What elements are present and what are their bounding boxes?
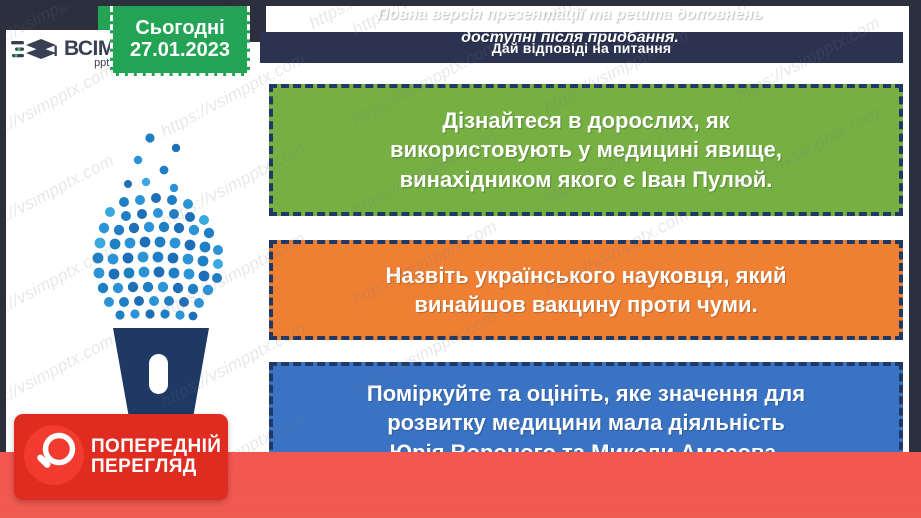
date-badge-today-label: Сьогодні [135,18,224,39]
question-2-line-1: Назвіть українського науковця, який [385,261,786,290]
preview-banner-line-1: Повна версія презентації та решта доповн… [250,4,890,27]
preview-banner-text: Повна версія презентації та решта доповн… [250,4,890,49]
preview-badge-line-1: ПОПЕРЕДНІЙ [91,437,221,457]
question-2-text: Назвіть українського науковця, який вина… [385,261,786,319]
brand-logo-text: ВСІМ pptx [64,38,115,69]
question-3-line-2: розвитку медицини мала діяльність [367,408,805,437]
question-1-line-3: винахідником якого є Іван Пулюй. [390,165,782,194]
question-1-line-2: використовують у медицині явище, [390,135,782,164]
question-2-line-2: винайшов вакцину проти чуми. [385,290,786,319]
question-box-1: Дізнайтеся в дорослих, як використовують… [269,84,903,216]
preview-badge-labels: ПОПЕРЕДНІЙ ПЕРЕГЛЯД [91,437,221,477]
question-1-text: Дізнайтеся в дорослих, як використовують… [390,106,782,193]
preview-banner-line-2: доступні після придбання. [250,27,890,50]
microphone-illustration [66,116,266,446]
question-1-line-1: Дізнайтеся в дорослих, як [390,106,782,135]
question-box-2: Назвіть українського науковця, який вина… [269,240,903,340]
preview-badge-line-2: ПЕРЕГЛЯД [91,457,221,477]
brand-name: ВСІМ [64,38,115,59]
date-badge: Сьогодні 27.01.2023 [110,6,250,76]
question-3-line-1: Поміркуйте та оцініть, яке значення для [367,379,805,408]
slide-frame: ВСІМ pptx Сьогодні 27.01.2023 Дай відпов… [0,0,921,518]
magnifier-icon [23,424,85,491]
date-badge-date: 27.01.2023 [130,39,230,62]
microphone-ball-dots [93,133,223,320]
preview-badge[interactable]: ПОПЕРЕДНІЙ ПЕРЕГЛЯД [14,414,228,500]
graduation-cap-icon [10,34,62,73]
